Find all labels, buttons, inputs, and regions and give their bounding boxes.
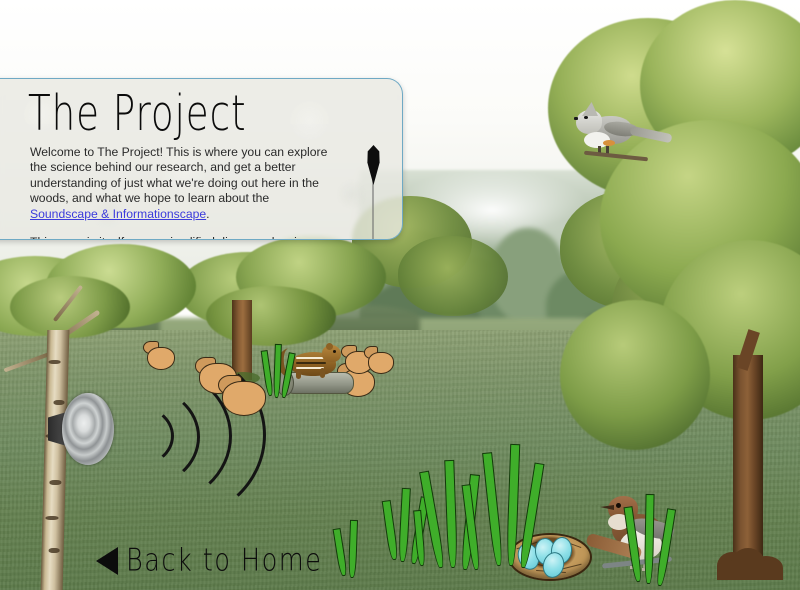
- intro-paragraph: Welcome to The Project! This is where yo…: [30, 145, 330, 222]
- panel-scrollbar-thumb[interactable]: [365, 145, 382, 185]
- acorn-icon: [368, 346, 392, 371]
- back-to-home-link[interactable]: Back to Home: [96, 545, 333, 576]
- page-title: The Project: [28, 85, 247, 144]
- tufted-titmouse-illustration: [560, 100, 670, 170]
- back-to-home-label: Back to Home: [126, 543, 322, 579]
- intro-text-after-link: .: [206, 207, 209, 221]
- diagram-paragraph: This page is itself a very simplified di…: [30, 235, 330, 240]
- left-arrow-icon: [96, 547, 118, 575]
- thrush-bird-illustration: [586, 490, 696, 582]
- acorn-icon: [222, 375, 264, 417]
- project-info-panel: The Project Welcome to The Project! This…: [0, 78, 403, 240]
- project-page-scene: The Project Welcome to The Project! This…: [0, 0, 800, 590]
- intro-text-before-link: Welcome to The Project! This is where yo…: [30, 145, 327, 205]
- soundscape-informationscape-link[interactable]: Soundscape & Informationscape: [30, 207, 206, 221]
- acorn-icon: [147, 341, 173, 368]
- canopy-foliage: [398, 236, 508, 316]
- panel-body-text: Welcome to The Project! This is where yo…: [30, 145, 330, 240]
